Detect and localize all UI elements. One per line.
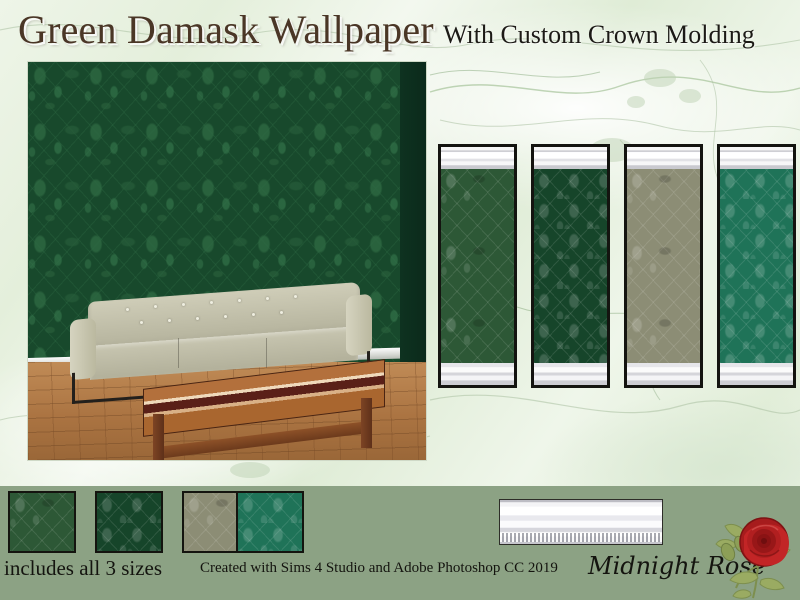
swatch-4[interactable] (236, 491, 304, 553)
panel-baseboard (720, 363, 793, 385)
panel-crown-molding (441, 147, 514, 169)
swatch-damask-pattern (97, 493, 161, 551)
panel-crown-molding (720, 147, 793, 169)
wallpaper-panel-3[interactable] (624, 144, 703, 388)
credit-text: Created with Sims 4 Studio and Adobe Pho… (200, 560, 558, 577)
panel-damask-pattern (441, 169, 514, 363)
page-subtitle: With Custom Crown Molding (443, 20, 755, 50)
panel-wallpaper-field (534, 169, 607, 363)
room-render-preview (27, 61, 427, 461)
panel-baseboard (441, 363, 514, 385)
coffee-table (143, 374, 383, 461)
red-rose-logo (706, 500, 798, 600)
wallpaper-preview-poster: Green Damask Wallpaper With Custom Crown… (0, 0, 800, 600)
swatch-damask-pattern (238, 493, 302, 551)
wall-side-panel (400, 62, 426, 362)
wallpaper-panel-4[interactable] (717, 144, 796, 388)
footer-band: includes all 3 sizes Created with Sims 4… (0, 486, 800, 600)
panel-wallpaper-field (627, 169, 700, 363)
swatch-damask-pattern (10, 493, 74, 551)
panel-wallpaper-field (720, 169, 793, 363)
crown-molding-sample[interactable] (499, 499, 663, 545)
sizes-note: includes all 3 sizes (4, 556, 162, 581)
sofa-arm-right (346, 294, 372, 357)
panel-baseboard (627, 363, 700, 385)
panel-wallpaper-field (441, 169, 514, 363)
panel-damask-pattern (720, 169, 793, 363)
page-title: Green Damask Wallpaper (18, 8, 434, 52)
wallpaper-panel-1[interactable] (438, 144, 517, 388)
swatch-2[interactable] (95, 491, 163, 553)
panel-crown-molding (627, 147, 700, 169)
wallpaper-panel-2[interactable] (531, 144, 610, 388)
panel-damask-pattern (627, 169, 700, 363)
wallpaper-panel-strip (438, 144, 794, 388)
panel-baseboard (534, 363, 607, 385)
dentil-detail (500, 533, 662, 542)
poster-header: Green Damask Wallpaper With Custom Crown… (0, 0, 800, 58)
panel-crown-molding (534, 147, 607, 169)
swatch-1[interactable] (8, 491, 76, 553)
panel-damask-pattern (534, 169, 607, 363)
